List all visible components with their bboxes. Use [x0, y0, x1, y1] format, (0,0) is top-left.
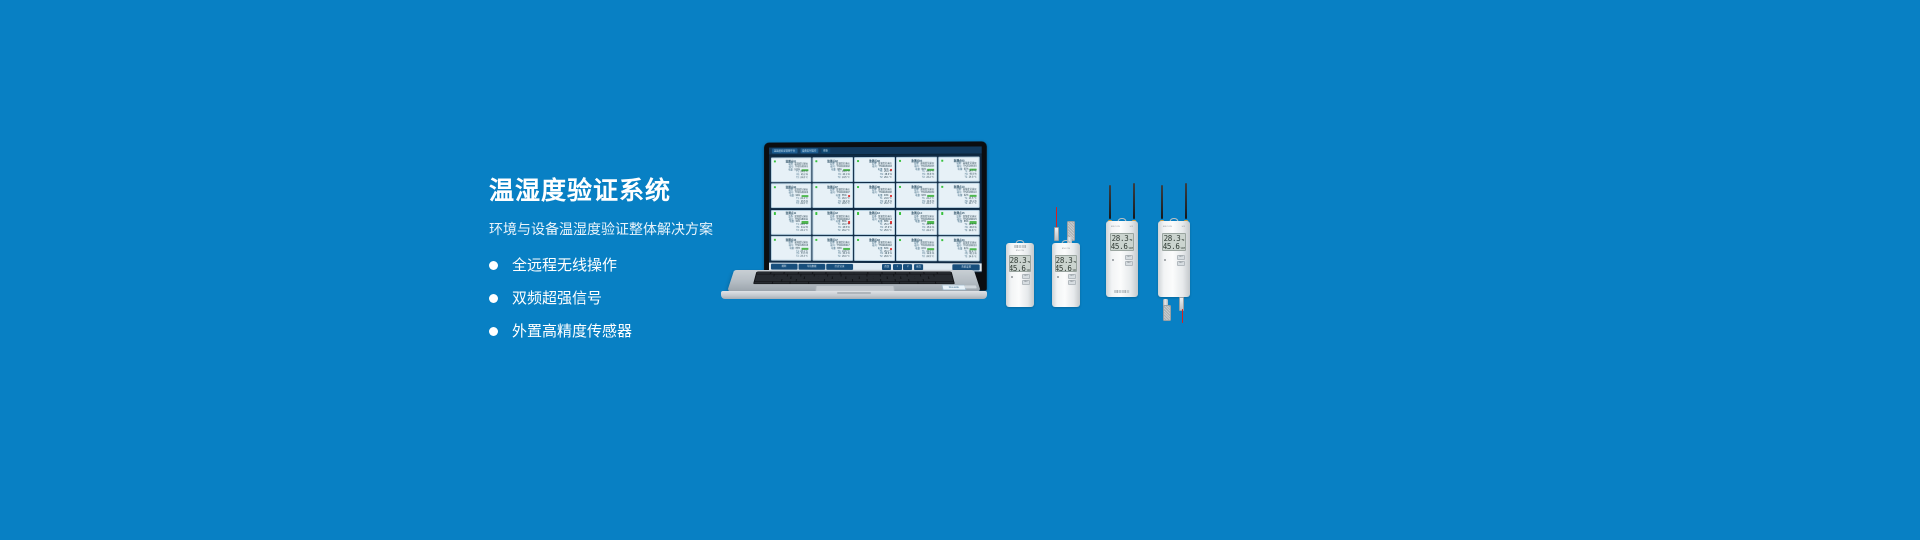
- monitor-card-key: 编号:: [830, 219, 835, 222]
- monitor-card[interactable]: 监测点11设备:温湿度记录仪编号:TH20180011电量:90%T1:24.0…: [771, 210, 811, 235]
- antenna-right-icon: [1185, 183, 1187, 219]
- monitor-card-value: 24.2 ℃: [926, 177, 934, 180]
- monitor-card[interactable]: 监测点10设备:温湿度记录仪编号:TH20180010电量:92%T1:24.5…: [939, 183, 980, 208]
- monitor-card-row: T2:24.9 ℃: [942, 177, 977, 180]
- monitor-card-row: T2:24.4 ℃: [899, 230, 934, 233]
- device-brand-row: ENCON H3: [1158, 226, 1190, 228]
- device-lcd: 28.3 ℃ 45.6 %RH: [1162, 233, 1186, 251]
- monitor-card-key: T2:: [796, 230, 799, 233]
- monitor-card-key: 电量:: [788, 169, 793, 172]
- laptop-keyboard[interactable]: [753, 272, 955, 285]
- lcd-humidity-unit: %RH: [1181, 248, 1186, 251]
- laptop-device: 温湿度验证管理平台 设备实时监控 帮助 监测点01设备:温湿度记录仪编号:TH2…: [719, 142, 989, 302]
- list-item: 外置高精度传感器: [489, 324, 909, 339]
- monitor-card-key: 编号:: [872, 166, 877, 169]
- monitor-card[interactable]: 监测点07设备:温湿度记录仪编号:TH20180007电量:55%T1:26.3…: [812, 183, 852, 208]
- lcd-humidity-value: 45.6: [1163, 243, 1180, 251]
- lcd-humidity-unit: %RH: [1027, 270, 1031, 272]
- lcd-humidity-row: 45.6 %RH: [1111, 243, 1133, 251]
- device-lcd: 28.3 ℃ 45.6 %RH: [1009, 255, 1031, 272]
- status-led-icon: [857, 212, 859, 214]
- status-led-icon: [857, 186, 859, 188]
- monitor-card-key: T2:: [964, 177, 967, 180]
- lcd-humidity-row: 45.6 %RH: [1056, 265, 1076, 272]
- device-wireless-dual-antenna: ENCON H3 28.3 ℃ 45.6 %RH SET REC: [1106, 221, 1138, 297]
- device-brand: ENCON: [1163, 226, 1172, 228]
- monitor-card-row: T2:26.1 ℃: [857, 177, 892, 180]
- monitor-card-value: 24.8 ℃: [800, 177, 808, 180]
- keyboard-key[interactable]: [791, 282, 809, 284]
- probe-sensor-tip: [1163, 305, 1171, 321]
- monitor-card-row: T2:24.6 ℃: [774, 203, 808, 206]
- keyboard-key[interactable]: [918, 282, 936, 284]
- monitor-card-key: T2:: [880, 203, 883, 206]
- monitor-card-row: T2:24.4 ℃: [899, 203, 934, 206]
- monitor-card-value: 26.5 ℃: [842, 203, 850, 206]
- feature-label: 外置高精度传感器: [512, 324, 632, 339]
- monitor-card-key: 电量:: [831, 248, 836, 251]
- monitor-card-key: 电量:: [915, 221, 920, 224]
- monitor-card-value: 25.6 ℃: [884, 230, 892, 233]
- monitor-card[interactable]: 监测点09设备:温湿度记录仪编号:TH20180009电量:93%T1:24.2…: [896, 183, 937, 208]
- monitor-card-key: T2:: [838, 203, 841, 206]
- monitor-card-key: 编号:: [830, 192, 835, 195]
- bullet-icon: [489, 261, 498, 270]
- monitor-card-key: T2:: [964, 230, 967, 233]
- lcd-temperature-unit: ℃: [1129, 240, 1132, 243]
- device-brand: ENCON: [1052, 248, 1080, 250]
- tab-platform[interactable]: 温湿度验证管理平台: [772, 148, 797, 153]
- monitor-card-value: 25.0 ℃: [884, 203, 892, 206]
- monitor-card-row: T2:25.0 ℃: [857, 203, 892, 206]
- device-model: H3: [1182, 226, 1185, 228]
- device-lcd: 28.3 ℃ 45.6 %RH: [1110, 233, 1134, 251]
- monitor-card-row: T2:24.2 ℃: [899, 177, 934, 180]
- device-rec-button[interactable]: REC: [1022, 280, 1030, 285]
- laptop-open-notch: [837, 292, 871, 294]
- laptop-sticker: 验证系统: [941, 285, 966, 290]
- monitor-card-key: 电量:: [789, 221, 794, 224]
- monitor-card-key: 电量:: [958, 195, 963, 198]
- monitor-card[interactable]: 监测点14设备:温湿度记录仪编号:TH20180014电量:87%T1:24.3…: [896, 210, 937, 235]
- device-brand: ENCON: [1111, 226, 1120, 228]
- status-led-icon: [899, 159, 901, 161]
- probe-connector: [1054, 227, 1059, 241]
- bullet-icon: [489, 294, 498, 303]
- keyboard-key[interactable]: [936, 282, 954, 284]
- status-led-icon: [857, 239, 859, 241]
- device-lcd: 28.3 ℃ 45.6 %RH: [1055, 255, 1077, 272]
- lcd-humidity-row: 45.6 %RH: [1163, 243, 1185, 251]
- lcd-humidity-value: 45.6: [1055, 265, 1072, 272]
- monitor-card-value: 24.4 ℃: [926, 230, 934, 233]
- status-led-icon: [899, 239, 901, 241]
- status-led-icon: [857, 160, 859, 162]
- product-banner: 温湿度验证系统 环境与设备温湿度验证整体解决方案 全远程无线操作 双频超强信号 …: [0, 0, 1920, 540]
- monitor-card-key: T2:: [922, 230, 925, 233]
- lcd-temperature-unit: ℃: [1073, 262, 1076, 265]
- monitor-card-row: T2:24.1 ℃: [774, 230, 808, 233]
- bullet-icon: [489, 327, 498, 336]
- status-led-icon: [773, 238, 775, 240]
- monitor-card-key: 电量:: [958, 248, 963, 251]
- device-rec-button[interactable]: REC: [1068, 280, 1076, 285]
- monitor-card-key: T2:: [838, 230, 841, 233]
- device-set-button[interactable]: SET: [1125, 255, 1133, 260]
- feature-label: 双频超强信号: [512, 291, 602, 306]
- sensor-hole-icon: [1112, 259, 1114, 261]
- device-lineup: ENCON 28.3 ℃ 45.6 %RH SET REC: [1000, 185, 1220, 315]
- status-led-icon: [815, 186, 817, 188]
- monitor-card-key: T2:: [964, 203, 967, 206]
- status-led-icon: [941, 239, 943, 241]
- keyboard-key[interactable]: [754, 282, 772, 284]
- monitor-card-key: T2:: [880, 177, 883, 180]
- monitor-card-value: 24.9 ℃: [969, 177, 977, 180]
- device-set-button[interactable]: SET: [1177, 255, 1185, 260]
- monitor-card-row: T2:24.5 ℃: [815, 177, 849, 180]
- monitor-card-key: 电量:: [915, 248, 920, 251]
- device-set-button[interactable]: SET: [1068, 274, 1076, 279]
- monitor-card-key: T2:: [922, 203, 925, 206]
- monitor-card-value: 24.8 ℃: [969, 230, 977, 233]
- monitor-card-key: T2:: [922, 177, 925, 180]
- tab-monitor[interactable]: 设备实时监控: [800, 148, 818, 153]
- probe-wire: [1056, 207, 1057, 229]
- keyboard-key[interactable]: [772, 282, 790, 284]
- monitor-card-value: 24.1 ℃: [800, 230, 808, 233]
- lcd-humidity-value: 45.6: [1111, 243, 1128, 251]
- status-led-icon: [815, 160, 817, 162]
- device-logger-external-probe: ENCON 28.3 ℃ 45.6 %RH SET REC: [1052, 243, 1080, 307]
- device-body: ENCON H3 28.3 ℃ 45.6 %RH SET REC: [1106, 221, 1138, 297]
- lcd-humidity-value: 45.6: [1009, 265, 1026, 272]
- keyboard-key[interactable]: [900, 282, 918, 284]
- status-led-icon: [815, 239, 817, 241]
- monitor-card-key: T2:: [796, 177, 799, 180]
- sensor-hole-icon: [1164, 259, 1166, 261]
- monitor-card[interactable]: 监测点03设备:温湿度记录仪编号:TH20180003电量:61%T1:25.9…: [854, 157, 895, 182]
- probe-wire: [1182, 309, 1183, 323]
- status-led-icon: [941, 159, 943, 161]
- device-set-button[interactable]: SET: [1022, 274, 1030, 279]
- lcd-temperature-unit: ℃: [1027, 262, 1030, 265]
- antenna-left-icon: [1109, 185, 1111, 219]
- vent-grille-icon: [1014, 245, 1026, 248]
- lcd-humidity-unit: %RH: [1073, 270, 1077, 272]
- vent-grille-icon: [1114, 290, 1130, 293]
- device-model: H3: [1130, 226, 1133, 228]
- device-rec-button[interactable]: REC: [1177, 261, 1185, 266]
- status-led-icon: [941, 212, 943, 214]
- device-brand-row: ENCON H3: [1106, 226, 1138, 228]
- monitor-card[interactable]: 监测点06设备:温湿度记录仪编号:TH20180006电量:96%T1:24.4…: [771, 184, 811, 209]
- monitor-card-row: T2:24.8 ℃: [942, 230, 977, 233]
- monitor-card-key: T2:: [796, 203, 799, 206]
- monitor-card-key: 编号:: [872, 192, 877, 195]
- device-brand: ENCON: [1006, 250, 1034, 252]
- laptop-base-front: [721, 291, 987, 299]
- monitor-card-value: 26.1 ℃: [884, 177, 892, 180]
- monitor-card-key: 电量:: [915, 195, 920, 198]
- monitor-card-row: T2:26.2 ℃: [815, 230, 849, 233]
- monitor-card-grid: 监测点01设备:温湿度记录仪编号:TH20180001电量:100%T1:24.…: [769, 155, 982, 264]
- status-led-icon: [773, 186, 775, 188]
- laptop-base: 验证系统: [719, 254, 989, 302]
- device-body: ENCON 28.3 ℃ 45.6 %RH SET REC: [1052, 243, 1080, 307]
- lcd-humidity-row: 45.6 %RH: [1010, 265, 1030, 272]
- keyboard-key[interactable]: [882, 282, 900, 284]
- device-wireless-probe-combo: ENCON H3 28.3 ℃ 45.6 %RH SET REC: [1158, 221, 1190, 297]
- sensor-hole-icon: [1057, 276, 1059, 278]
- feature-label: 全远程无线操作: [512, 258, 617, 273]
- monitor-card-row: T2:24.8 ℃: [774, 177, 808, 180]
- status-led-icon: [773, 160, 775, 162]
- status-led-icon: [815, 212, 817, 214]
- monitor-card[interactable]: 监测点12设备:温湿度记录仪编号:TH20180012电量:58%T1:26.0…: [812, 210, 852, 235]
- lcd-temperature-unit: ℃: [1181, 240, 1184, 243]
- tab-help[interactable]: 帮助: [821, 148, 830, 153]
- monitor-card[interactable]: 监测点15设备:温湿度记录仪编号:TH20180015电量:86%T1:24.6…: [939, 210, 980, 235]
- monitor-card[interactable]: 监测点08设备:温湿度记录仪编号:TH20180008电量:94%T1:24.9…: [854, 183, 895, 208]
- monitor-card-row: T2:24.7 ℃: [942, 203, 977, 206]
- keyboard-row: [754, 282, 954, 284]
- antenna-right-icon: [1133, 183, 1135, 219]
- keyboard-key[interactable]: [809, 282, 881, 284]
- monitor-card[interactable]: 监测点05设备:温湿度记录仪编号:TH20180005电量:97%T1:24.7…: [939, 157, 980, 182]
- monitor-card-row: T2:26.5 ℃: [815, 203, 849, 206]
- monitor-card-key: 电量:: [958, 221, 963, 224]
- laptop-sticker-secondary: [964, 285, 977, 288]
- monitor-card-value: 24.7 ℃: [969, 203, 977, 206]
- monitor-card-value: 24.6 ℃: [800, 203, 808, 206]
- lcd-humidity-unit: %RH: [1129, 248, 1134, 251]
- status-led-icon: [899, 212, 901, 214]
- device-body: ENCON 28.3 ℃ 45.6 %RH SET REC: [1006, 243, 1034, 307]
- device-logger-basic: ENCON 28.3 ℃ 45.6 %RH SET REC: [1006, 243, 1034, 307]
- antenna-left-icon: [1161, 185, 1163, 219]
- monitor-card-key: 电量:: [915, 168, 920, 171]
- status-led-icon: [773, 212, 775, 214]
- monitor-card[interactable]: 监测点02设备:温湿度记录仪编号:TH20180002电量:98%T1:24.3…: [812, 157, 852, 182]
- monitor-card-value: 24.5 ℃: [842, 177, 850, 180]
- monitor-card-key: 电量:: [958, 168, 963, 171]
- monitor-card-key: 编号:: [872, 245, 877, 248]
- monitor-card-key: 电量:: [789, 248, 794, 251]
- monitor-card-value: 26.2 ℃: [842, 230, 850, 233]
- monitor-card[interactable]: 监测点13设备:温湿度记录仪编号:TH20180013电量:88%T1:25.4…: [854, 210, 895, 235]
- device-body: ENCON H3 28.3 ℃ 45.6 %RH SET REC: [1158, 221, 1190, 297]
- monitor-card-row: T2:25.6 ℃: [857, 230, 892, 233]
- device-rec-button[interactable]: REC: [1125, 261, 1133, 266]
- monitor-card-key: 电量:: [789, 195, 794, 198]
- monitor-card-key: 电量:: [831, 169, 836, 172]
- monitor-card-key: T2:: [880, 230, 883, 233]
- laptop-base-surface: 验证系统: [727, 270, 981, 292]
- monitor-card-value: 24.4 ℃: [926, 203, 934, 206]
- monitor-card[interactable]: 监测点01设备:温湿度记录仪编号:TH20180001电量:100%T1:24.…: [771, 157, 811, 182]
- monitor-card-key: T2:: [838, 177, 841, 180]
- monitor-card-key: 编号:: [872, 219, 877, 222]
- sensor-hole-icon: [1011, 276, 1013, 278]
- monitor-card[interactable]: 监测点04设备:温湿度记录仪编号:TH20180004电量:99%T1:24.1…: [896, 157, 937, 182]
